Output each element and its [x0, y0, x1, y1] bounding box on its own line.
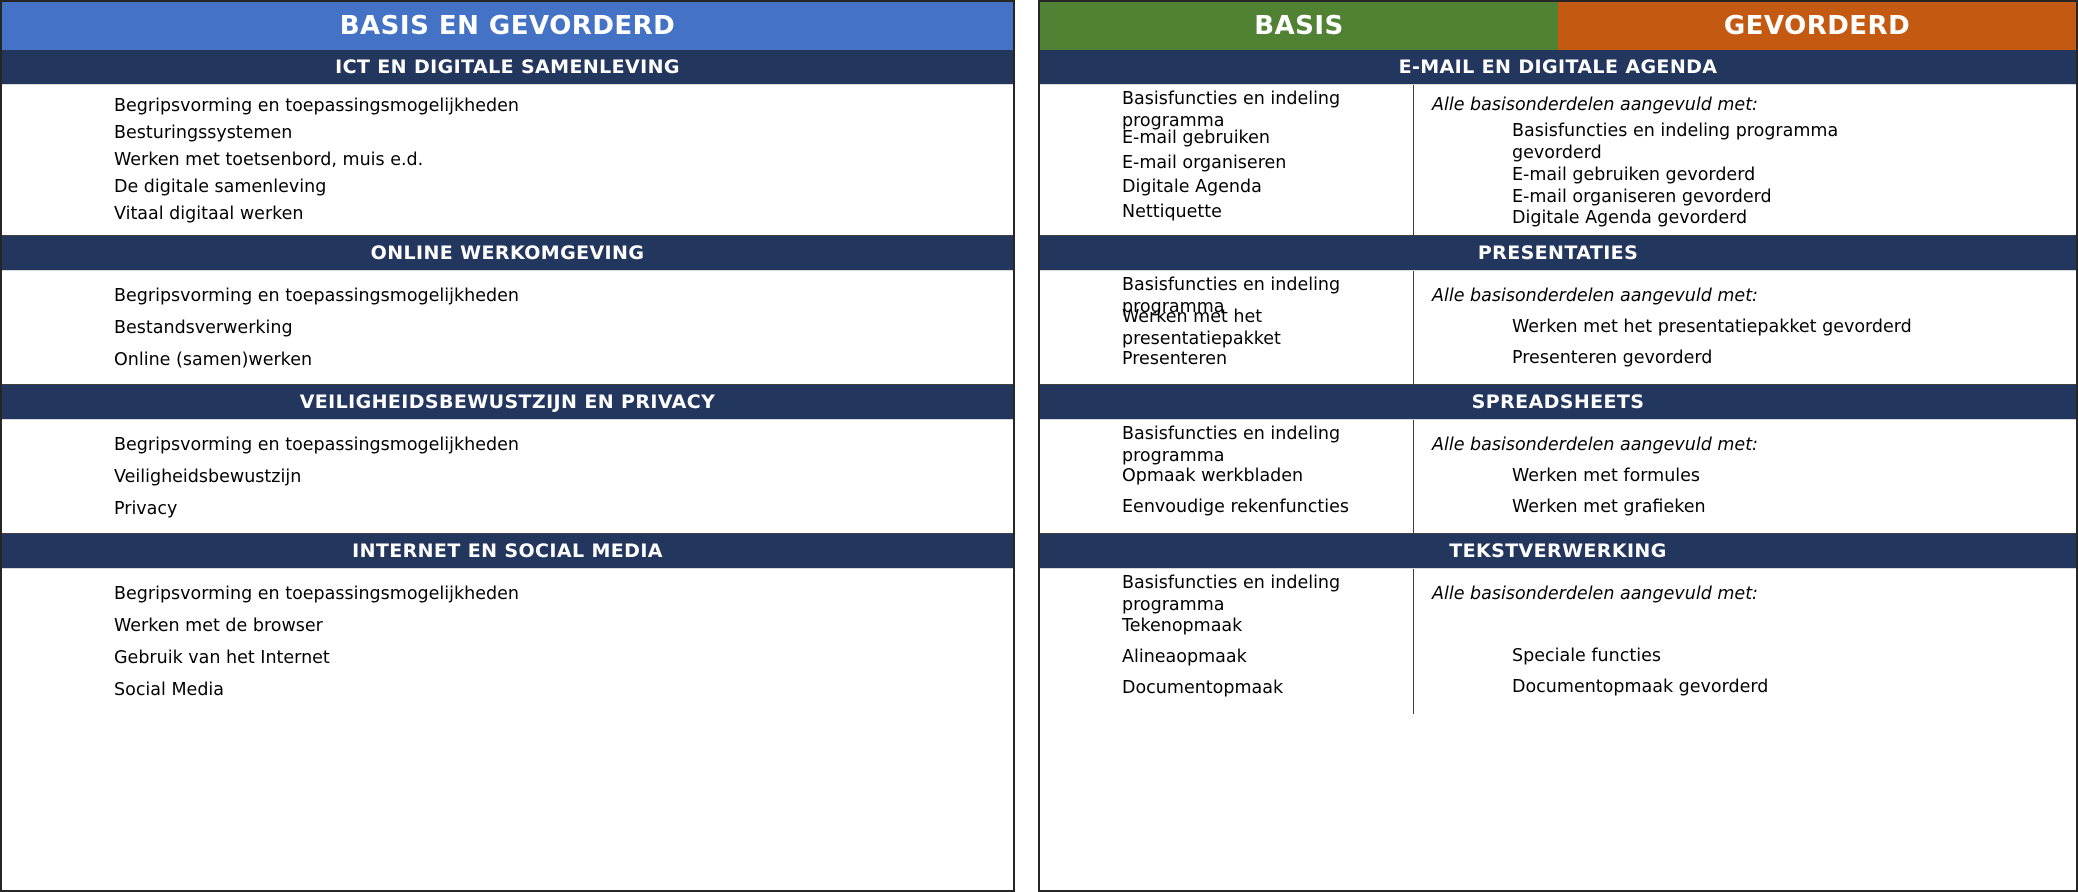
list-item: Presenteren: [1122, 345, 1413, 374]
basis-column: Basisfuncties en indeling programma Werk…: [1040, 271, 1414, 384]
list-item: Werken met de browser: [114, 610, 1013, 642]
right-table-banner-gevorderd: GEVORDERD: [1558, 2, 2076, 50]
list-item: Alineaopmaak: [1122, 642, 1413, 673]
section-header-spreadsheets: SPREADSHEETS: [1040, 385, 2076, 419]
list-item: Vitaal digitaal werken: [114, 200, 1013, 227]
gevorderd-column: Alle basisonderdelen aangevuld met: Werk…: [1414, 271, 2076, 384]
list-item: Basisfuncties en indeling programma: [1122, 95, 1413, 127]
list-item: Tekenopmaak: [1122, 611, 1413, 642]
list-item: Basisfuncties en indeling programma: [1122, 579, 1413, 611]
section-body-veiligheidsbewustzijn-en-privacy: Begripsvorming en toepassingsmogelijkhed…: [2, 419, 1013, 534]
section-header-veiligheidsbewustzijn-en-privacy: VEILIGHEIDSBEWUSTZIJN EN PRIVACY: [2, 385, 1013, 419]
list-item: Nettiquette: [1122, 201, 1413, 226]
list-item: Werken met het presentatiepakket: [1122, 313, 1413, 345]
section-header-online-werkomgeving: ONLINE WERKOMGEVING: [2, 236, 1013, 270]
section-header-presentaties: PRESENTATIES: [1040, 236, 2076, 270]
list-item: E-mail gebruiken: [1122, 127, 1413, 152]
section-header-internet-en-social-media: INTERNET EN SOCIAL MEDIA: [2, 534, 1013, 568]
gevorderd-intro: Alle basisonderdelen aangevuld met:: [1432, 579, 2076, 610]
list-item: Opmaak werkbladen: [1122, 462, 1413, 493]
list-item: Veiligheidsbewustzijn: [114, 461, 1013, 493]
basis-column: Basisfuncties en indeling programma E-ma…: [1040, 85, 1414, 235]
list-item: Werken met formules: [1432, 461, 2076, 492]
list-item: Gebruik van het Internet: [114, 642, 1013, 674]
basis-column: Basisfuncties en indeling programma Teke…: [1040, 569, 1414, 714]
gevorderd-column: Alle basisonderdelen aangevuld met: Spec…: [1414, 569, 2076, 714]
list-item: Presenteren gevorderd: [1432, 343, 2076, 374]
list-item: Bestandsverwerking: [114, 312, 1013, 344]
gevorderd-intro: Alle basisonderdelen aangevuld met:: [1432, 281, 2076, 312]
section-body-e-mail-en-digitale-agenda: Basisfuncties en indeling programma E-ma…: [1040, 84, 2076, 236]
list-item: Privacy: [114, 493, 1013, 525]
basis-gevorderd-split-table: BASIS GEVORDERD E-MAIL EN DIGITALE AGEND…: [1038, 0, 2078, 892]
section-header-ict-en-digitale-samenleving: ICT EN DIGITALE SAMENLEVING: [2, 50, 1013, 84]
list-item: Social Media: [114, 674, 1013, 706]
list-item: Digitale Agenda: [1122, 176, 1413, 201]
list-item: Besturingssystemen: [114, 120, 1013, 147]
left-table-banner: BASIS EN GEVORDERD: [2, 2, 1013, 50]
list-item: Eenvoudige rekenfuncties: [1122, 493, 1413, 524]
list-item: Speciale functies: [1432, 642, 2076, 673]
list-item: Documentopmaak: [1122, 673, 1413, 704]
section-body-ict-en-digitale-samenleving: Begripsvorming en toepassingsmogelijkhed…: [2, 84, 1013, 236]
list-item: Werken met grafieken: [1432, 492, 2076, 523]
list-item: De digitale samenleving: [114, 173, 1013, 200]
gevorderd-intro: Alle basisonderdelen aangevuld met:: [1432, 430, 2076, 461]
section-body-tekstverwerking: Basisfuncties en indeling programma Teke…: [1040, 568, 2076, 714]
list-item: E-mail gebruiken gevorderd: [1432, 165, 2076, 187]
section-header-e-mail-en-digitale-agenda: E-MAIL EN DIGITALE AGENDA: [1040, 50, 2076, 84]
list-item: Basisfuncties en indeling programma gevo…: [1432, 117, 1852, 165]
list-item: Begripsvorming en toepassingsmogelijkhed…: [114, 578, 1013, 610]
section-body-presentaties: Basisfuncties en indeling programma Werk…: [1040, 270, 2076, 385]
list-item: Begripsvorming en toepassingsmogelijkhed…: [114, 93, 1013, 120]
comparison-tables-page: BASIS EN GEVORDERD ICT EN DIGITALE SAMEN…: [0, 0, 2078, 892]
section-body-online-werkomgeving: Begripsvorming en toepassingsmogelijkhed…: [2, 270, 1013, 385]
right-table-banner-basis: BASIS: [1040, 2, 1558, 50]
gevorderd-intro: Alle basisonderdelen aangevuld met:: [1432, 95, 2076, 117]
list-item: Begripsvorming en toepassingsmogelijkhed…: [114, 280, 1013, 312]
list-item: Basisfuncties en indeling programma: [1122, 430, 1413, 462]
list-item: Werken met het presentatiepakket gevorde…: [1432, 312, 2076, 343]
list-item: E-mail organiseren gevorderd: [1432, 187, 2076, 209]
section-header-tekstverwerking: TEKSTVERWERKING: [1040, 534, 2076, 568]
basis-en-gevorderd-table: BASIS EN GEVORDERD ICT EN DIGITALE SAMEN…: [0, 0, 1015, 892]
gevorderd-column: Alle basisonderdelen aangevuld met: Basi…: [1414, 85, 2076, 235]
list-item: Begripsvorming en toepassingsmogelijkhed…: [114, 429, 1013, 461]
section-body-internet-en-social-media: Begripsvorming en toepassingsmogelijkhed…: [2, 568, 1013, 714]
list-item: Werken met toetsenbord, muis e.d.: [114, 147, 1013, 174]
gevorderd-column: Alle basisonderdelen aangevuld met: Werk…: [1414, 420, 2076, 533]
list-item: Documentopmaak gevorderd: [1432, 673, 2076, 704]
list-item: E-mail organiseren: [1122, 152, 1413, 177]
right-table-banner-row: BASIS GEVORDERD: [1040, 2, 2076, 50]
list-item: Online (samen)werken: [114, 344, 1013, 376]
list-item-placeholder: [1432, 610, 2076, 641]
basis-column: Basisfuncties en indeling programma Opma…: [1040, 420, 1414, 533]
section-body-spreadsheets: Basisfuncties en indeling programma Opma…: [1040, 419, 2076, 534]
list-item: Digitale Agenda gevorderd: [1432, 208, 2076, 230]
